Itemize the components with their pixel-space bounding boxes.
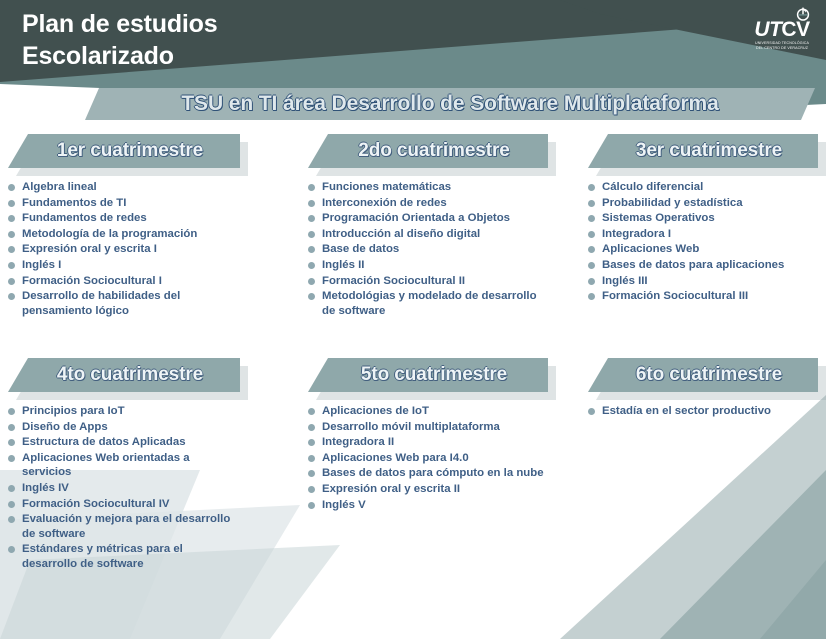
utcv-wordmark: UTCV xyxy=(745,18,819,42)
course-item: Inglés III xyxy=(588,274,818,289)
course-item: Bases de datos para cómputo en la nube xyxy=(308,466,548,481)
course-item: Formación Sociocultural III xyxy=(588,289,818,304)
course-label: Inglés IV xyxy=(22,482,69,494)
bullet-icon xyxy=(308,486,315,493)
bullet-icon xyxy=(588,293,595,300)
bullet-icon xyxy=(308,439,315,446)
quarter-label: 5to cuatrimestre xyxy=(349,364,507,386)
quarter-header-band: 1er cuatrimestre xyxy=(8,134,240,168)
quarter-header-2do: 2do cuatrimestre xyxy=(308,134,548,174)
course-item: Integradora I xyxy=(588,227,818,242)
course-item: Programación Orientada a Objetos xyxy=(308,211,548,226)
bullet-icon xyxy=(8,293,15,300)
course-item: Cálculo diferencial xyxy=(588,180,818,195)
quarter-header-band: 6to cuatrimestre xyxy=(588,358,818,392)
quarter-label: 2do cuatrimestre xyxy=(346,140,510,162)
bullet-icon xyxy=(308,184,315,191)
quarter-label: 6to cuatrimestre xyxy=(624,364,782,386)
logo-ut-text: UT xyxy=(754,18,781,41)
course-item: Evaluación y mejora para el desarrollo d… xyxy=(8,512,240,541)
bullet-icon xyxy=(308,215,315,222)
course-item: Aplicaciones de IoT xyxy=(308,404,548,419)
bullet-icon xyxy=(8,262,15,269)
quarter-header-4to: 4to cuatrimestre xyxy=(8,358,240,398)
course-item: Inglés V xyxy=(308,498,548,513)
quarter-card-4to: 4to cuatrimestre Principios para IoTDise… xyxy=(8,358,240,573)
quarter-header-band: 2do cuatrimestre xyxy=(308,134,548,168)
bullet-icon xyxy=(588,278,595,285)
course-label: Estadía en el sector productivo xyxy=(602,405,771,417)
course-item: Estándares y métricas para el desarrollo… xyxy=(8,542,240,571)
course-item: Integradora II xyxy=(308,435,548,450)
course-label: Sistemas Operativos xyxy=(602,212,715,224)
course-item: Probabilidad y estadística xyxy=(588,196,818,211)
course-item: Metodológias y modelado de desarrollo de… xyxy=(308,289,548,318)
quarter-card-1er: 1er cuatrimestre Algebra linealFundament… xyxy=(8,134,240,319)
course-item: Estructura de datos Aplicadas xyxy=(8,435,240,450)
bullet-icon xyxy=(588,231,595,238)
course-label: Inglés II xyxy=(322,259,364,271)
course-label: Inglés III xyxy=(602,275,648,287)
course-label: Diseño de Apps xyxy=(22,421,108,433)
quarter-label: 3er cuatrimestre xyxy=(624,140,782,162)
course-label: Aplicaciones Web xyxy=(602,243,699,255)
quarter-label: 4to cuatrimestre xyxy=(45,364,203,386)
course-item: Base de datos xyxy=(308,242,548,257)
bullet-icon xyxy=(8,184,15,191)
bullet-icon xyxy=(308,231,315,238)
quarter-header-6to: 6to cuatrimestre xyxy=(588,358,818,398)
bullet-icon xyxy=(588,408,595,415)
bullet-icon xyxy=(8,485,15,492)
bullet-icon xyxy=(308,293,315,300)
course-label: Metodológias y modelado de desarrollo de… xyxy=(322,290,537,317)
course-label: Bases de datos para cómputo en la nube xyxy=(322,467,544,479)
course-item: Formación Sociocultural II xyxy=(308,274,548,289)
bullet-icon xyxy=(308,200,315,207)
course-item: Aplicaciones Web xyxy=(588,242,818,257)
course-label: Aplicaciones de IoT xyxy=(322,405,429,417)
course-label: Fundamentos de redes xyxy=(22,212,147,224)
course-label: Expresión oral y escrita I xyxy=(22,243,157,255)
bullet-icon xyxy=(588,262,595,269)
course-label: Programación Orientada a Objetos xyxy=(322,212,510,224)
course-label: Estándares y métricas para el desarrollo… xyxy=(22,543,183,570)
bullet-icon xyxy=(8,231,15,238)
bullet-icon xyxy=(308,246,315,253)
quarter-header-1er: 1er cuatrimestre xyxy=(8,134,240,174)
course-label: Estructura de datos Aplicadas xyxy=(22,436,186,448)
course-list: Estadía en el sector productivo xyxy=(588,404,818,419)
bullet-icon xyxy=(308,455,315,462)
course-item: Metodología de la programación xyxy=(8,227,240,242)
course-item: Sistemas Operativos xyxy=(588,211,818,226)
bullet-icon xyxy=(588,184,595,191)
course-label: Fundamentos de TI xyxy=(22,197,126,209)
course-item: Fundamentos de redes xyxy=(8,211,240,226)
bullet-icon xyxy=(8,408,15,415)
course-label: Funciones matemáticas xyxy=(322,181,451,193)
course-item: Inglés IV xyxy=(8,481,240,496)
course-item: Algebra lineal xyxy=(8,180,240,195)
course-label: Probabilidad y estadística xyxy=(602,197,743,209)
bullet-icon xyxy=(308,502,315,509)
quarter-header-5to: 5to cuatrimestre xyxy=(308,358,548,398)
course-item: Funciones matemáticas xyxy=(308,180,548,195)
course-item: Introducción al diseño digital xyxy=(308,227,548,242)
page-title: Plan de estudios Escolarizado xyxy=(22,8,217,72)
course-item: Inglés I xyxy=(8,258,240,273)
bullet-icon xyxy=(8,546,15,553)
course-list: Cálculo diferencialProbabilidad y estadí… xyxy=(588,180,818,304)
bullet-icon xyxy=(8,424,15,431)
bullet-icon xyxy=(8,455,15,462)
course-label: Integradora I xyxy=(602,228,671,240)
bullet-icon xyxy=(308,470,315,477)
quarter-header-band: 3er cuatrimestre xyxy=(588,134,818,168)
bullet-icon xyxy=(8,516,15,523)
bullet-icon xyxy=(308,278,315,285)
course-label: Desarrollo móvil multiplataforma xyxy=(322,421,500,433)
course-list: Funciones matemáticasInterconexión de re… xyxy=(308,180,548,318)
course-label: Introducción al diseño digital xyxy=(322,228,480,240)
course-item: Formación Sociocultural IV xyxy=(8,497,240,512)
course-label: Desarrollo de habilidades del pensamient… xyxy=(22,290,180,317)
curriculum-grid: 1er cuatrimestre Algebra linealFundament… xyxy=(0,130,826,639)
bullet-icon xyxy=(308,424,315,431)
course-label: Algebra lineal xyxy=(22,181,97,193)
course-label: Bases de datos para aplicaciones xyxy=(602,259,784,271)
bullet-icon xyxy=(308,408,315,415)
quarter-header-band: 4to cuatrimestre xyxy=(8,358,240,392)
logo-cv-text: CV xyxy=(781,18,809,41)
course-item: Fundamentos de TI xyxy=(8,196,240,211)
course-label: Expresión oral y escrita II xyxy=(322,483,460,495)
quarter-label: 1er cuatrimestre xyxy=(45,140,203,162)
course-item: Aplicaciones Web para I4.0 xyxy=(308,451,548,466)
bullet-icon xyxy=(588,246,595,253)
course-label: Formación Sociocultural I xyxy=(22,275,162,287)
bullet-icon xyxy=(8,278,15,285)
course-item: Expresión oral y escrita II xyxy=(308,482,548,497)
course-label: Integradora II xyxy=(322,436,394,448)
course-label: Formación Sociocultural IV xyxy=(22,498,169,510)
program-title: TSU en TI área Desarrollo de Software Mu… xyxy=(85,88,815,120)
course-list: Aplicaciones de IoTDesarrollo móvil mult… xyxy=(308,404,548,512)
course-label: Evaluación y mejora para el desarrollo d… xyxy=(22,513,230,540)
course-item: Inglés II xyxy=(308,258,548,273)
course-item: Formación Sociocultural I xyxy=(8,274,240,289)
quarter-card-6to: 6to cuatrimestre Estadía en el sector pr… xyxy=(588,358,818,420)
course-item: Desarrollo de habilidades del pensamient… xyxy=(8,289,240,318)
course-list: Algebra linealFundamentos de TIFundament… xyxy=(8,180,240,318)
course-label: Cálculo diferencial xyxy=(602,181,703,193)
course-label: Aplicaciones Web orientadas a servicios xyxy=(22,452,190,479)
course-item: Principios para IoT xyxy=(8,404,240,419)
course-label: Metodología de la programación xyxy=(22,228,197,240)
course-label: Inglés V xyxy=(322,499,366,511)
course-label: Base de datos xyxy=(322,243,399,255)
quarter-card-5to: 5to cuatrimestre Aplicaciones de IoTDesa… xyxy=(308,358,548,513)
course-label: Formación Sociocultural III xyxy=(602,290,748,302)
bullet-icon xyxy=(8,246,15,253)
bullet-icon xyxy=(8,439,15,446)
program-title-banner: TSU en TI área Desarrollo de Software Mu… xyxy=(85,88,815,120)
course-label: Interconexión de redes xyxy=(322,197,447,209)
course-item: Bases de datos para aplicaciones xyxy=(588,258,818,273)
course-item: Expresión oral y escrita I xyxy=(8,242,240,257)
quarter-header-3er: 3er cuatrimestre xyxy=(588,134,818,174)
course-item: Aplicaciones Web orientadas a servicios xyxy=(8,451,240,480)
course-list: Principios para IoTDiseño de AppsEstruct… xyxy=(8,404,240,572)
quarter-card-3er: 3er cuatrimestre Cálculo diferencialProb… xyxy=(588,134,818,305)
course-item: Diseño de Apps xyxy=(8,420,240,435)
course-item: Estadía en el sector productivo xyxy=(588,404,818,419)
quarter-card-2do: 2do cuatrimestre Funciones matemáticasIn… xyxy=(308,134,548,319)
course-label: Principios para IoT xyxy=(22,405,125,417)
bullet-icon xyxy=(8,200,15,207)
utcv-logo: UTCV UNIVERSIDAD TECNOLÓGICA DEL CENTRO … xyxy=(745,8,819,54)
course-label: Inglés I xyxy=(22,259,61,271)
bullet-icon xyxy=(588,200,595,207)
course-item: Interconexión de redes xyxy=(308,196,548,211)
bullet-icon xyxy=(308,262,315,269)
bullet-icon xyxy=(588,215,595,222)
course-item: Desarrollo móvil multiplataforma xyxy=(308,420,548,435)
bullet-icon xyxy=(8,215,15,222)
course-label: Formación Sociocultural II xyxy=(322,275,465,287)
bullet-icon xyxy=(8,501,15,508)
logo-subtitle: UNIVERSIDAD TECNOLÓGICA DEL CENTRO DE VE… xyxy=(745,41,819,50)
quarter-header-band: 5to cuatrimestre xyxy=(308,358,548,392)
course-label: Aplicaciones Web para I4.0 xyxy=(322,452,469,464)
